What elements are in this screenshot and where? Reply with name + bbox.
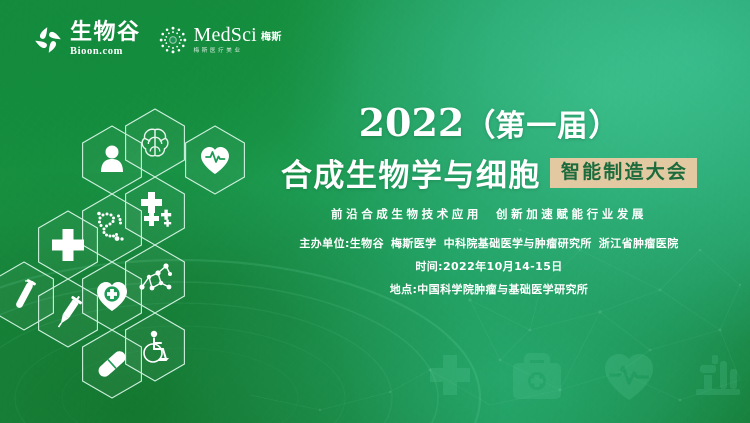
medical-bag-icon [513, 353, 561, 399]
logo-bar: 生物谷 Bioon.com [33, 22, 282, 58]
organizers-label: 主办单位: [299, 237, 349, 250]
subtitle-line: 前沿合成生物技术应用创新加速赋能行业发展 [250, 206, 728, 222]
time-line: 时间:2022年10月14-15日 [250, 261, 728, 272]
title-main-line: 合成生物学与细胞 智能制造大会 [250, 150, 728, 195]
place-line: 地点:中国科学院肿瘤与基础医学研究所 [250, 284, 728, 295]
cross-icon [430, 355, 470, 395]
medsci-cn-name: 梅斯 [261, 33, 282, 45]
background-faint-icons [420, 333, 750, 423]
title-badge: 智能制造大会 [550, 158, 697, 188]
dotted-circle-logo-icon [158, 25, 188, 55]
subtitle-left: 前沿合成生物技术应用 [331, 207, 482, 221]
medsci-en-name: MedSci [194, 25, 257, 45]
heart-pulse-icon [605, 354, 653, 400]
organizer-3: 中科院基础医学与肿瘤研究所 [444, 237, 592, 250]
title-year-line: 2022（第一届） [250, 104, 728, 142]
bioon-logo[interactable]: 生物谷 Bioon.com [33, 22, 141, 58]
meta-block: 主办单位:生物谷梅斯医学中科院基础医学与肿瘤研究所浙江省肿瘤医院 时间:2022… [250, 238, 728, 295]
organizer-1: 生物谷 [350, 237, 384, 250]
organizer-2: 梅斯医学 [391, 237, 437, 250]
pinwheel-logo-icon [33, 25, 63, 55]
title-edition: 第一届 [495, 109, 588, 144]
bioon-en-name: Bioon.com [70, 47, 123, 58]
medsci-sub-name: 梅斯医疗美业 [194, 49, 282, 55]
bioon-cn-name: 生物谷 [70, 22, 141, 44]
title-main: 合成生物学与细胞 [281, 150, 541, 195]
title-year: 2022 [359, 100, 465, 145]
conference-banner: 生物谷 Bioon.com [0, 0, 750, 423]
organizers-line: 主办单位:生物谷梅斯医学中科院基础医学与肿瘤研究所浙江省肿瘤医院 [250, 238, 728, 249]
title-block: 2022（第一届） 合成生物学与细胞 智能制造大会 前沿合成生物技术应用创新加速… [250, 104, 728, 295]
hexagon-icon-cluster [0, 100, 250, 400]
edition-open-paren: （ [464, 108, 495, 144]
subtitle-right: 创新加速赋能行业发展 [496, 207, 647, 221]
medsci-logo[interactable]: MedSci 梅斯 梅斯医疗美业 [158, 25, 282, 55]
organizer-4: 浙江省肿瘤医院 [599, 237, 679, 250]
microscope-icon [696, 355, 740, 395]
edition-close-paren: ） [588, 108, 619, 144]
